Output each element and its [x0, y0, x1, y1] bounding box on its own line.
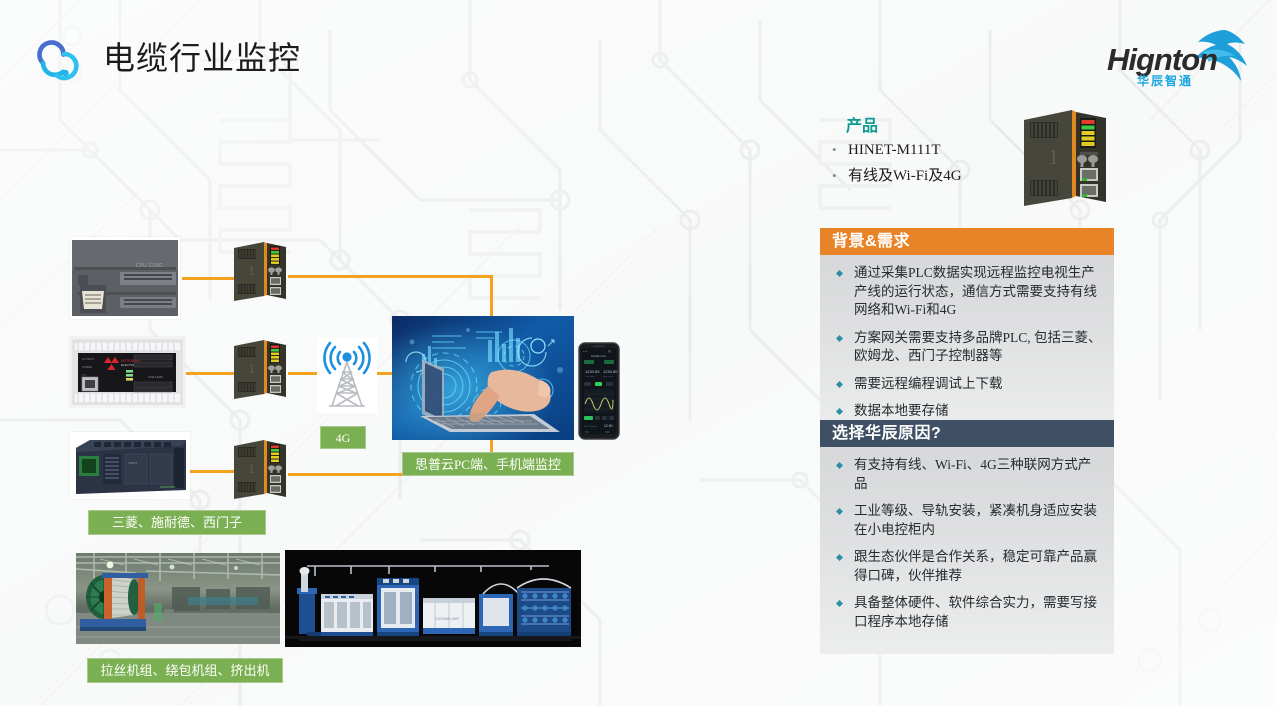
svg-text:Hum value: Hum value: [603, 376, 614, 378]
svg-text:Tem value: Tem value: [585, 376, 596, 378]
siemens-plc-icon: CPU 1215C: [70, 237, 180, 319]
svg-text:1: 1: [1048, 144, 1059, 169]
bullet-item: 具备整体硬件、软件综合实力，需要写接口程序本地存储: [828, 594, 1104, 631]
label-4g: 4G: [320, 426, 366, 449]
svg-text:1: 1: [248, 362, 255, 377]
hinet-gateway-icon: 1: [231, 239, 289, 303]
panel-background-requirements: 背景&需求 通过采集PLC数据实现远程监控电视生产产线的运行状态，通信方式需要支…: [820, 228, 1114, 431]
svg-text:Set IO Status: Set IO Status: [584, 425, 598, 428]
hinet-gateway-icon: 1: [231, 337, 289, 401]
product-item: HINET-M111T: [832, 142, 941, 159]
page-title: 电缆行业监控: [103, 33, 301, 79]
cloud-sync-logo-icon: [34, 33, 88, 87]
panel-header-title: 选择华辰原因?: [820, 420, 1114, 447]
brand-subname: 华辰智通: [1137, 72, 1193, 89]
svg-text:schneider: schneider: [160, 484, 176, 489]
bullet-item: 有支持有线、Wi-Fi、4G三种联网方式产品: [828, 456, 1104, 493]
wire-plc3-to-gateway3: [190, 470, 234, 473]
laptop-dashboard-icon: [392, 316, 574, 440]
panel-header-title: 背景&需求: [820, 228, 1114, 255]
svg-text:●●●: ●●●: [583, 350, 588, 353]
product-item: 有线及Wi-Fi及4G: [832, 164, 962, 185]
wire-gateway1-to-cloud: [288, 275, 493, 278]
svg-text:OFF: OFF: [605, 431, 610, 434]
wire-gateway1-down: [490, 275, 493, 320]
svg-text:12.50: 12.50: [604, 424, 613, 428]
svg-text:CPU 1215C: CPU 1215C: [136, 263, 163, 269]
svg-text:FX3U-32M: FX3U-32M: [148, 375, 163, 379]
svg-text:COOLING UNIT: COOLING UNIT: [435, 617, 460, 621]
label-cloud-monitor: 思普云PC端、手机端监控: [402, 452, 574, 476]
svg-text:DataMonitor: DataMonitor: [591, 354, 606, 358]
svg-text:X Y: X Y: [82, 373, 86, 377]
schneider-plc-icon: TM221 schneider: [70, 432, 190, 499]
hinet-gateway-icon: 1: [231, 437, 289, 501]
svg-text:1: 1: [248, 264, 255, 279]
wire-gateway2-to-tower: [288, 372, 320, 375]
svg-text:1234.50: 1234.50: [585, 369, 600, 374]
svg-text:⬛: ⬛: [608, 349, 611, 353]
mobile-dashboard-icon: ●●●⬛ DataMonitor 1234.501234.50 Tem valu…: [578, 342, 620, 440]
svg-text:POWER: POWER: [82, 365, 92, 369]
bullet-item: 数据本地要存储: [828, 402, 1104, 421]
panel-body: 通过采集PLC数据实现远程监控电视生产产线的运行状态，通信方式需要支持有线网络和…: [820, 255, 1114, 431]
svg-text:ON: ON: [585, 431, 589, 434]
panel-why-huachen: 选择华辰原因? 有支持有线、Wi-Fi、4G三种联网方式产品 工业等级、导轨安装…: [820, 420, 1114, 654]
cable-drum-factory-photo: [76, 553, 280, 644]
brand-logo: Hignton 华辰智通: [1107, 16, 1263, 96]
slide-canvas: 电缆行业监控 Hignton 华辰智通 产品 HINET-M111T 有线及Wi…: [0, 0, 1277, 706]
bullet-item: 工业等级、导轨安装，紧凑机身适应安装在小电控柜内: [828, 502, 1104, 539]
mitsubishi-plc-icon: MITSUBISHI ELECTRIC AC INPUT POWER X Y F…: [70, 337, 185, 407]
svg-text:1234.50: 1234.50: [603, 369, 618, 374]
label-machines: 拉丝机组、绕包机组、挤出机: [87, 658, 283, 683]
bullet-item: 需要远程编程调试上下载: [828, 375, 1104, 394]
svg-text:TM221: TM221: [128, 461, 138, 465]
4g-cell-tower-icon: [317, 338, 377, 413]
industrial-gateway-device-icon: 1: [1018, 106, 1112, 210]
svg-text:1: 1: [248, 462, 255, 477]
wire-plc1-to-gateway1: [182, 277, 234, 280]
bullet-item: 通过采集PLC数据实现远程监控电视生产产线的运行状态，通信方式需要支持有线网络和…: [828, 264, 1104, 320]
wire-plc2-to-gateway2: [186, 372, 234, 375]
label-plc-brands: 三菱、施耐德、西门子: [88, 510, 266, 535]
product-block: 产品 HINET-M111T 有线及Wi-Fi及4G: [826, 112, 1126, 222]
product-title: 产品: [846, 112, 878, 136]
extrusion-production-line-photo: COOLING UNIT: [285, 550, 581, 647]
panel-body: 有支持有线、Wi-Fi、4G三种联网方式产品 工业等级、导轨安装，紧凑机身适应安…: [820, 447, 1114, 654]
svg-text:AC INPUT: AC INPUT: [82, 357, 95, 361]
bullet-item: 方案网关需要支持多品牌PLC, 包括三菱、欧姆龙、西门子控制器等: [828, 329, 1104, 366]
bullet-item: 跟生态伙伴是合作关系，稳定可靠产品赢得口碑，伙伴推荐: [828, 548, 1104, 585]
